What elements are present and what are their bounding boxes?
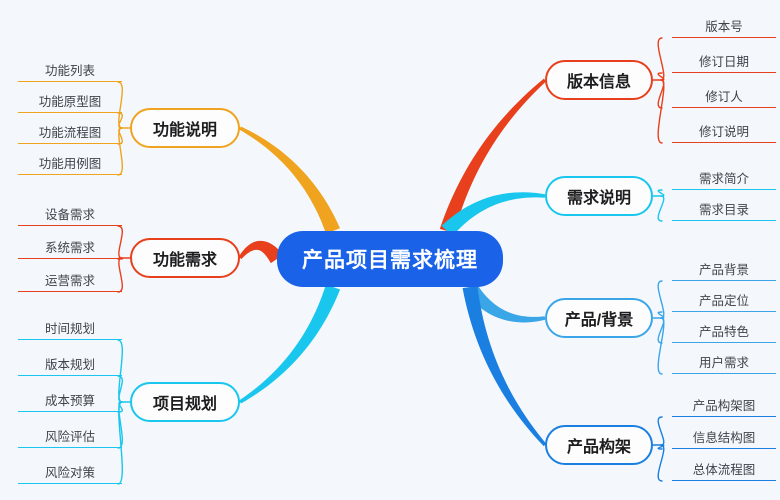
leaf-node[interactable]: 时间规划 (18, 310, 122, 340)
branch-node-version-information[interactable]: 版本信息 (545, 60, 653, 100)
branch-node-project-planning[interactable]: 项目规划 (130, 382, 240, 422)
branch-node-function-description[interactable]: 功能说明 (130, 108, 240, 148)
leaf-node[interactable]: 总体流程图 (672, 455, 776, 481)
leaf-node[interactable]: 功能列表 (18, 57, 122, 82)
leaf-node[interactable]: 风险评估 (18, 418, 122, 448)
leaf-node[interactable]: 修订人 (672, 79, 776, 108)
leaf-node[interactable]: 修订日期 (672, 44, 776, 73)
node-layer: 产品项目需求梳理 功能说明功能列表功能原型图功能流程图功能用例图功能需求设备需求… (0, 0, 780, 500)
branch-node-product-architecture[interactable]: 产品构架 (545, 425, 653, 465)
leaf-node[interactable]: 功能原型图 (18, 88, 122, 113)
leaf-node[interactable]: 功能用例图 (18, 150, 122, 175)
leaf-node[interactable]: 产品特色 (672, 318, 776, 343)
mindmap-canvas: 产品项目需求梳理 功能说明功能列表功能原型图功能流程图功能用例图功能需求设备需求… (0, 0, 780, 500)
leaf-node[interactable]: 需求简介 (672, 165, 776, 190)
branch-node-functional-requirements[interactable]: 功能需求 (130, 238, 240, 278)
leaf-node[interactable]: 系统需求 (18, 232, 122, 259)
branch-node-requirement-description[interactable]: 需求说明 (545, 176, 653, 216)
leaf-node[interactable]: 产品背景 (672, 256, 776, 281)
leaf-node[interactable]: 修订说明 (672, 114, 776, 143)
leaf-node[interactable]: 功能流程图 (18, 119, 122, 144)
leaf-node[interactable]: 信息结构图 (672, 423, 776, 449)
leaf-node[interactable]: 版本号 (672, 9, 776, 38)
leaf-node[interactable]: 产品构架图 (672, 391, 776, 417)
branch-node-product-background[interactable]: 产品/背景 (545, 298, 653, 338)
leaf-node[interactable]: 产品定位 (672, 287, 776, 312)
leaf-node[interactable]: 版本规划 (18, 346, 122, 376)
leaf-node[interactable]: 用户需求 (672, 349, 776, 374)
leaf-node[interactable]: 设备需求 (18, 199, 122, 226)
leaf-node[interactable]: 运营需求 (18, 265, 122, 292)
leaf-node[interactable]: 成本预算 (18, 382, 122, 412)
leaf-node[interactable]: 需求目录 (672, 196, 776, 221)
root-node[interactable]: 产品项目需求梳理 (277, 231, 503, 287)
leaf-node[interactable]: 风险对策 (18, 454, 122, 484)
